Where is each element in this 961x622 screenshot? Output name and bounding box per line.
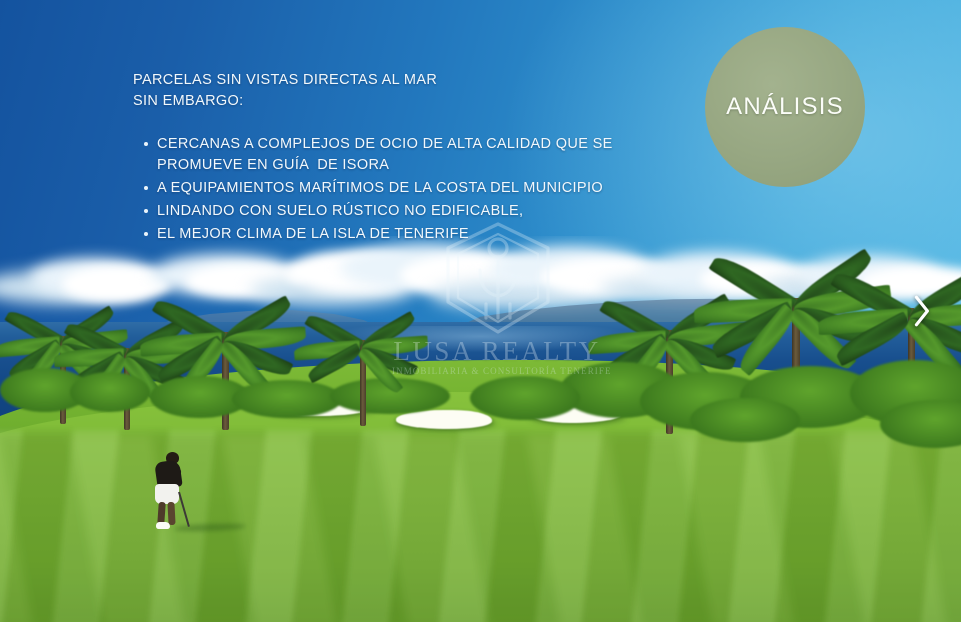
heading-line-2: SIN EMBARGO:: [133, 91, 653, 112]
analisis-badge-label: ANÁLISIS: [726, 93, 844, 121]
slide-container: LUSA REALTY INMOBILIARIA & CONSULTORÍA T…: [0, 0, 961, 622]
list-item: LINDANDO CON SUELO RÚSTICO NO EDIFICABLE…: [157, 201, 653, 222]
palm-tree: [300, 296, 430, 426]
golfer-figure: [148, 452, 192, 532]
list-item: A EQUIPAMIENTOS MARÍTIMOS DE LA COSTA DE…: [157, 178, 653, 199]
shrub: [70, 372, 150, 412]
heading-line-1: PARCELAS SIN VISTAS DIRECTAS AL MAR: [133, 70, 653, 91]
shrub: [470, 376, 580, 420]
list-item: EL MEJOR CLIMA DE LA ISLA DE TENERIFE: [157, 224, 653, 245]
shrub: [690, 398, 800, 442]
chevron-right-icon: [910, 292, 932, 330]
benefit-list: CERCANAS A COMPLEJOS DE OCIO DE ALTA CAL…: [133, 134, 653, 245]
fairway-mow-stripes-secondary: [0, 436, 961, 622]
next-slide-button[interactable]: [906, 288, 936, 334]
slide-copy: PARCELAS SIN VISTAS DIRECTAS AL MAR SIN …: [133, 70, 653, 247]
analisis-badge[interactable]: ANÁLISIS: [705, 27, 865, 187]
list-item: CERCANAS A COMPLEJOS DE OCIO DE ALTA CAL…: [157, 134, 653, 176]
